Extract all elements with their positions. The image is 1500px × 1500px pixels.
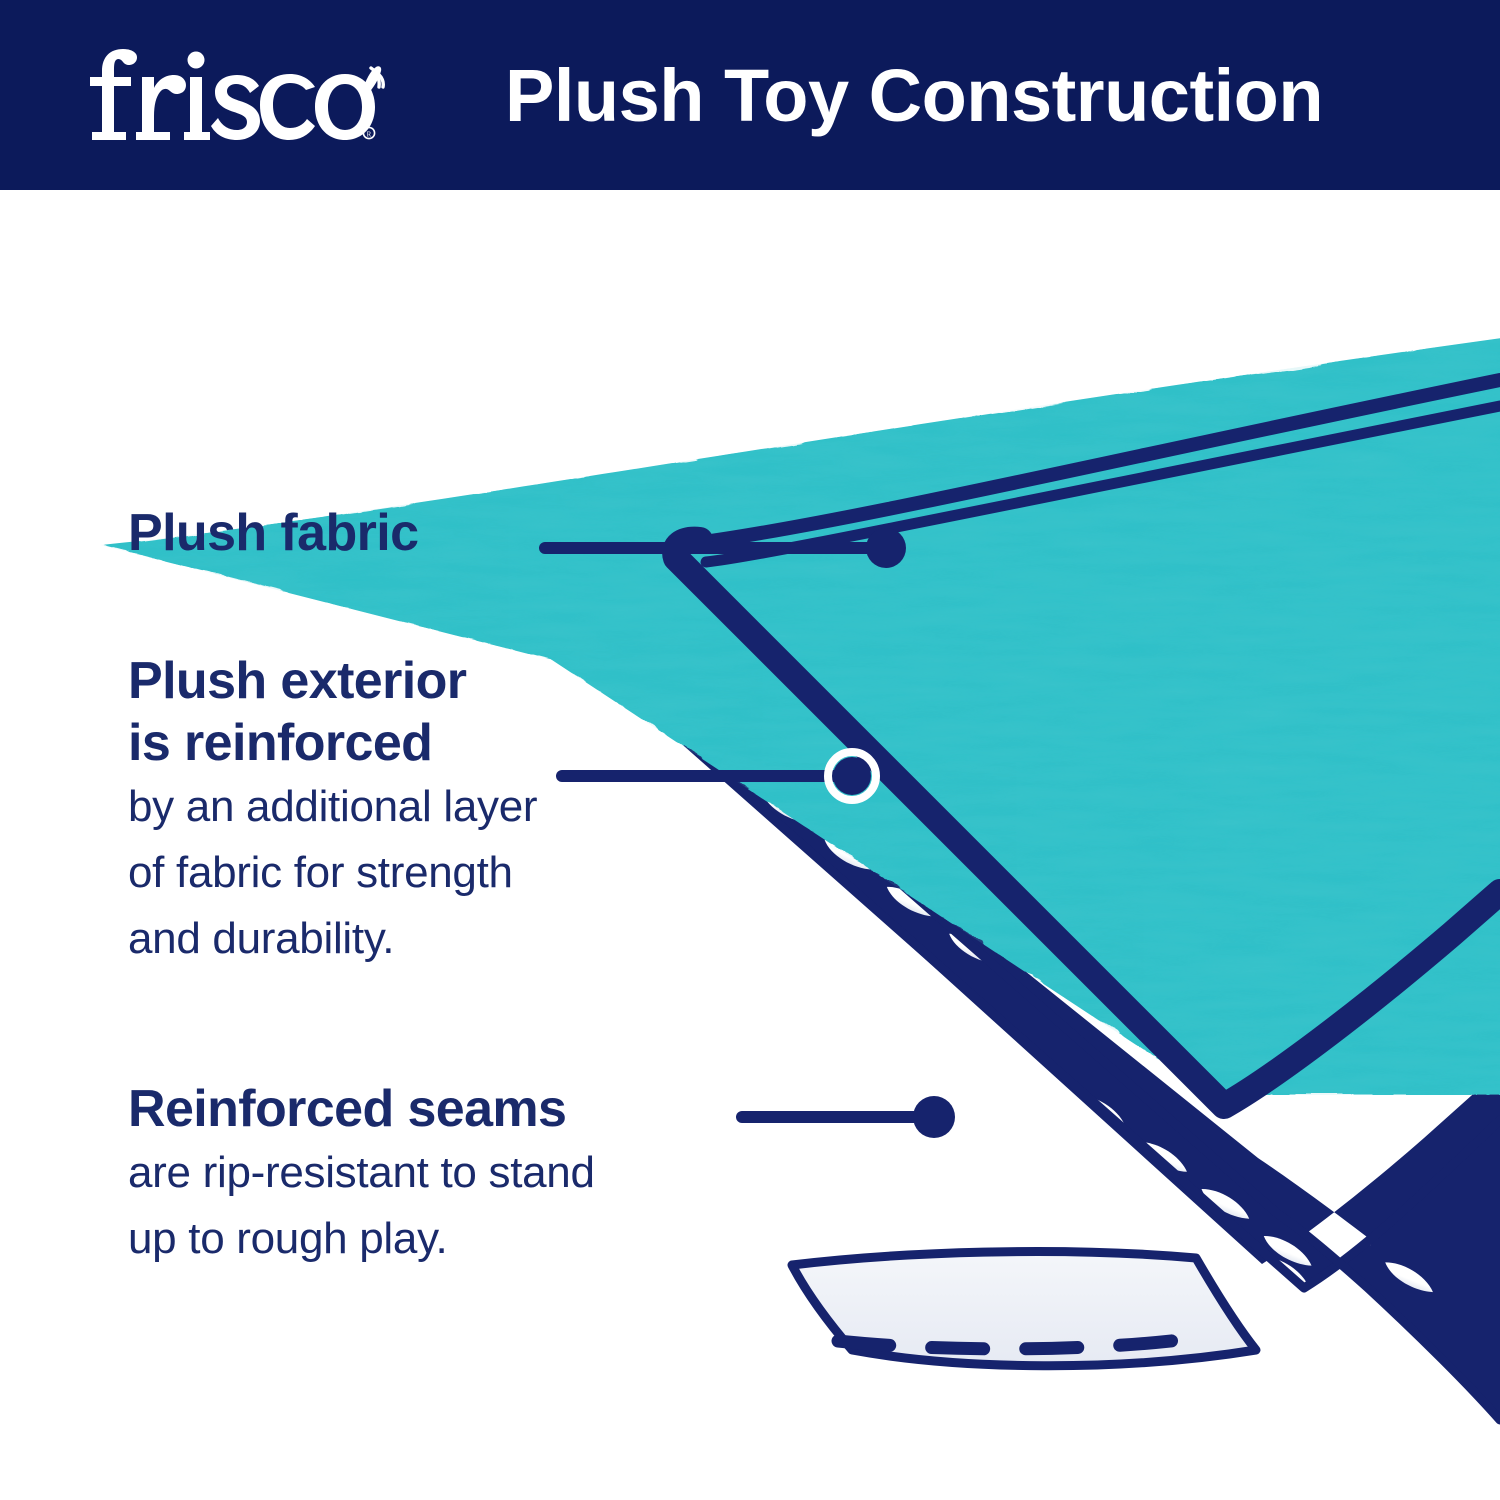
callout-reinforced-seams-heading: Reinforced seams <box>128 1078 595 1140</box>
leader-dot-plush-exterior <box>833 757 871 795</box>
header-bar: R Plush Toy Construction <box>0 0 1500 190</box>
callout-plush-exterior-heading-line-1: Plush exterior <box>128 650 537 712</box>
frisco-logo-svg: R <box>86 46 386 146</box>
callout-plush-exterior-body-line-2: of fabric for strength <box>128 840 537 906</box>
callout-plush-exterior-heading-line-2: is reinforced <box>128 712 537 774</box>
callout-reinforced-seams: Reinforced seams are rip-resistant to st… <box>128 1078 595 1272</box>
svg-text:R: R <box>367 130 372 138</box>
frisco-logo: R <box>86 46 386 146</box>
callout-plush-exterior: Plush exterior is reinforced by an addit… <box>128 650 537 972</box>
page-title: Plush Toy Construction <box>505 52 1445 140</box>
callout-plush-fabric-heading: Plush fabric <box>128 502 418 564</box>
callout-reinforced-seams-body-line-2: up to rough play. <box>128 1206 595 1272</box>
leader-dot-plush-fabric <box>866 528 906 568</box>
seam-flap <box>792 1252 1256 1366</box>
callout-plush-exterior-body-line-3: and durability. <box>128 906 537 972</box>
callout-plush-fabric: Plush fabric <box>128 502 418 564</box>
infographic-page: R Plush Toy Construction <box>0 0 1500 1500</box>
callout-plush-exterior-body-line-1: by an additional layer <box>128 774 537 840</box>
callout-reinforced-seams-body-line-1: are rip-resistant to stand <box>128 1140 595 1206</box>
leader-dot-reinforced-seams <box>913 1096 955 1138</box>
